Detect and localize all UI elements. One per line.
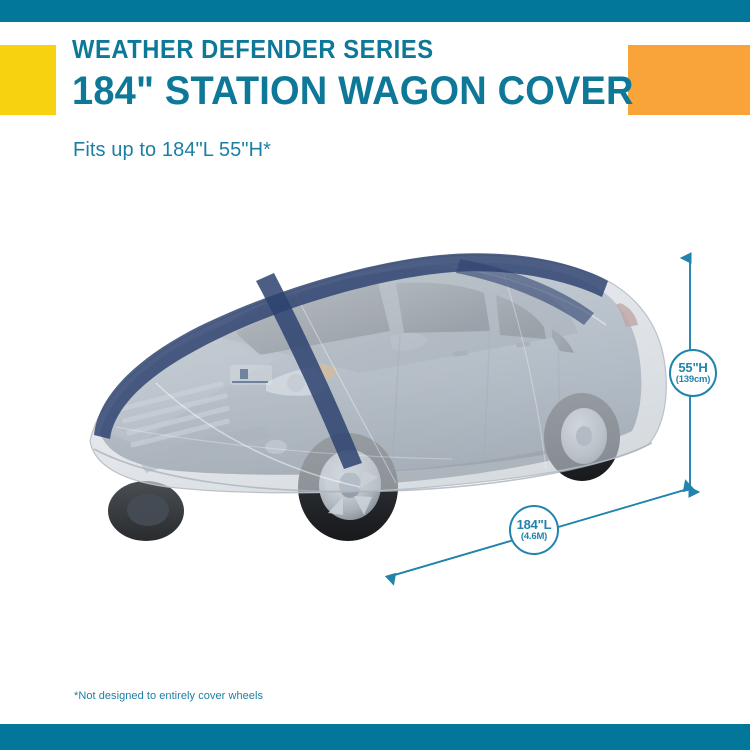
car-cover xyxy=(90,255,666,493)
header-text-group: WEATHER DEFENDER SERIES 184" STATION WAG… xyxy=(72,38,632,111)
height-dimension-badge: 55"H (139cm) xyxy=(669,349,717,397)
top-brand-bar xyxy=(0,0,750,22)
product-illustration xyxy=(60,215,680,575)
decorative-block-yellow xyxy=(0,45,56,115)
bottom-brand-bar xyxy=(0,724,750,750)
height-metric: (139cm) xyxy=(676,375,711,385)
cover-logo-patch xyxy=(230,365,272,385)
product-info-graphic: WEATHER DEFENDER SERIES 184" STATION WAG… xyxy=(0,0,750,750)
page-title: 184" STATION WAGON COVER xyxy=(72,71,604,111)
series-eyebrow: WEATHER DEFENDER SERIES xyxy=(72,38,593,64)
footnote-text: *Not designed to entirely cover wheels xyxy=(74,690,263,702)
length-value: 184"L xyxy=(517,518,552,532)
decorative-block-orange xyxy=(628,45,750,115)
front-left-wheel xyxy=(108,481,184,541)
height-value: 55"H xyxy=(678,361,707,375)
length-metric: (4.6M) xyxy=(521,532,547,542)
fit-subtitle: Fits up to 184"L 55"H* xyxy=(73,139,271,162)
length-dimension-badge: 184"L (4.6M) xyxy=(509,505,559,555)
